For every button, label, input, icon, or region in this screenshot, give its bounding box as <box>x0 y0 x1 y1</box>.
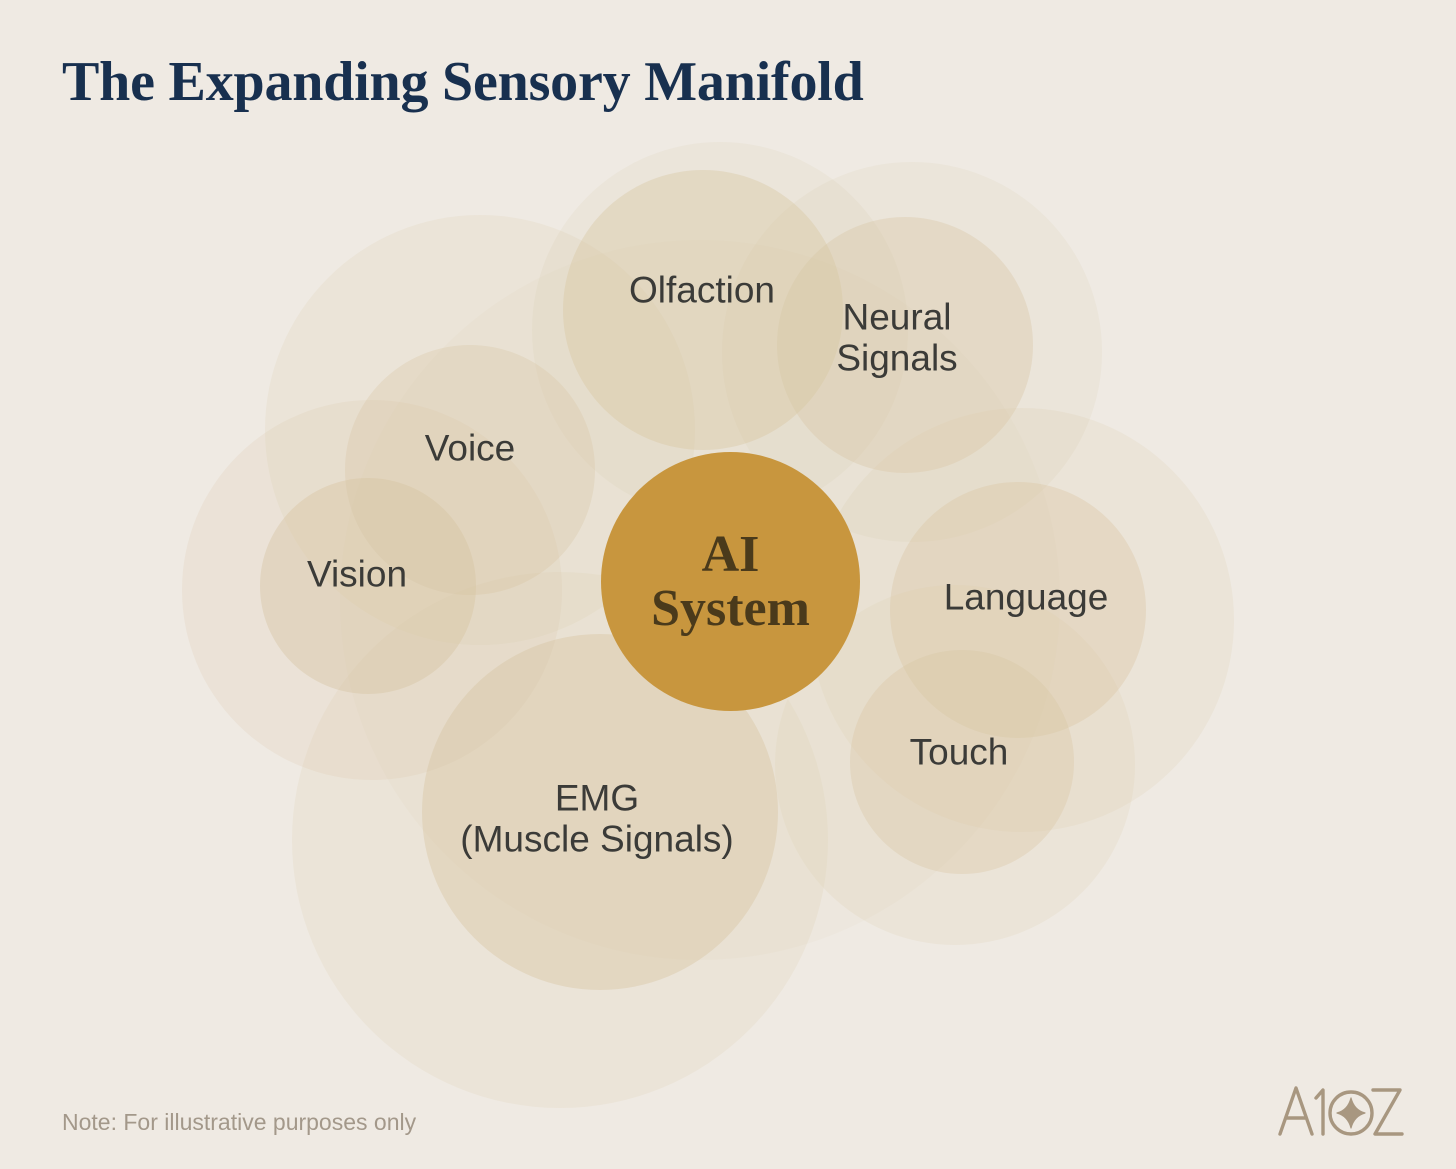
modality-label-line1: Voice <box>425 427 516 468</box>
modality-label-touch[interactable]: Touch <box>910 731 1009 772</box>
core-label-line2: System <box>651 582 810 635</box>
modality-label-emg-muscle-signals[interactable]: EMG(Muscle Signals) <box>460 778 733 861</box>
ai-system-core-circle[interactable]: AI System <box>601 452 860 711</box>
modality-label-line2: Signals <box>836 338 957 379</box>
modality-label-olfaction[interactable]: Olfaction <box>629 269 775 310</box>
modality-label-line1: Language <box>944 576 1109 617</box>
core-label-line1: AI <box>702 528 760 581</box>
modality-label-neural-signals[interactable]: NeuralSignals <box>836 297 957 380</box>
modality-label-language[interactable]: Language <box>944 576 1109 617</box>
modality-label-line1: Olfaction <box>629 269 775 310</box>
diagram-canvas: The Expanding Sensory Manifold Olfaction… <box>0 0 1456 1169</box>
footnote: Note: For illustrative purposes only <box>62 1109 416 1136</box>
modality-label-line1: Vision <box>307 553 407 594</box>
modality-label-vision[interactable]: Vision <box>307 553 407 594</box>
modality-label-voice[interactable]: Voice <box>425 427 516 468</box>
a16z-logo-mark <box>1276 1080 1404 1140</box>
modality-label-line1: Touch <box>910 731 1009 772</box>
modality-label-line1: EMG <box>460 778 733 819</box>
modality-label-line1: Neural <box>836 297 957 338</box>
a16z-logo <box>1276 1080 1404 1140</box>
modality-label-line2: (Muscle Signals) <box>460 819 733 860</box>
